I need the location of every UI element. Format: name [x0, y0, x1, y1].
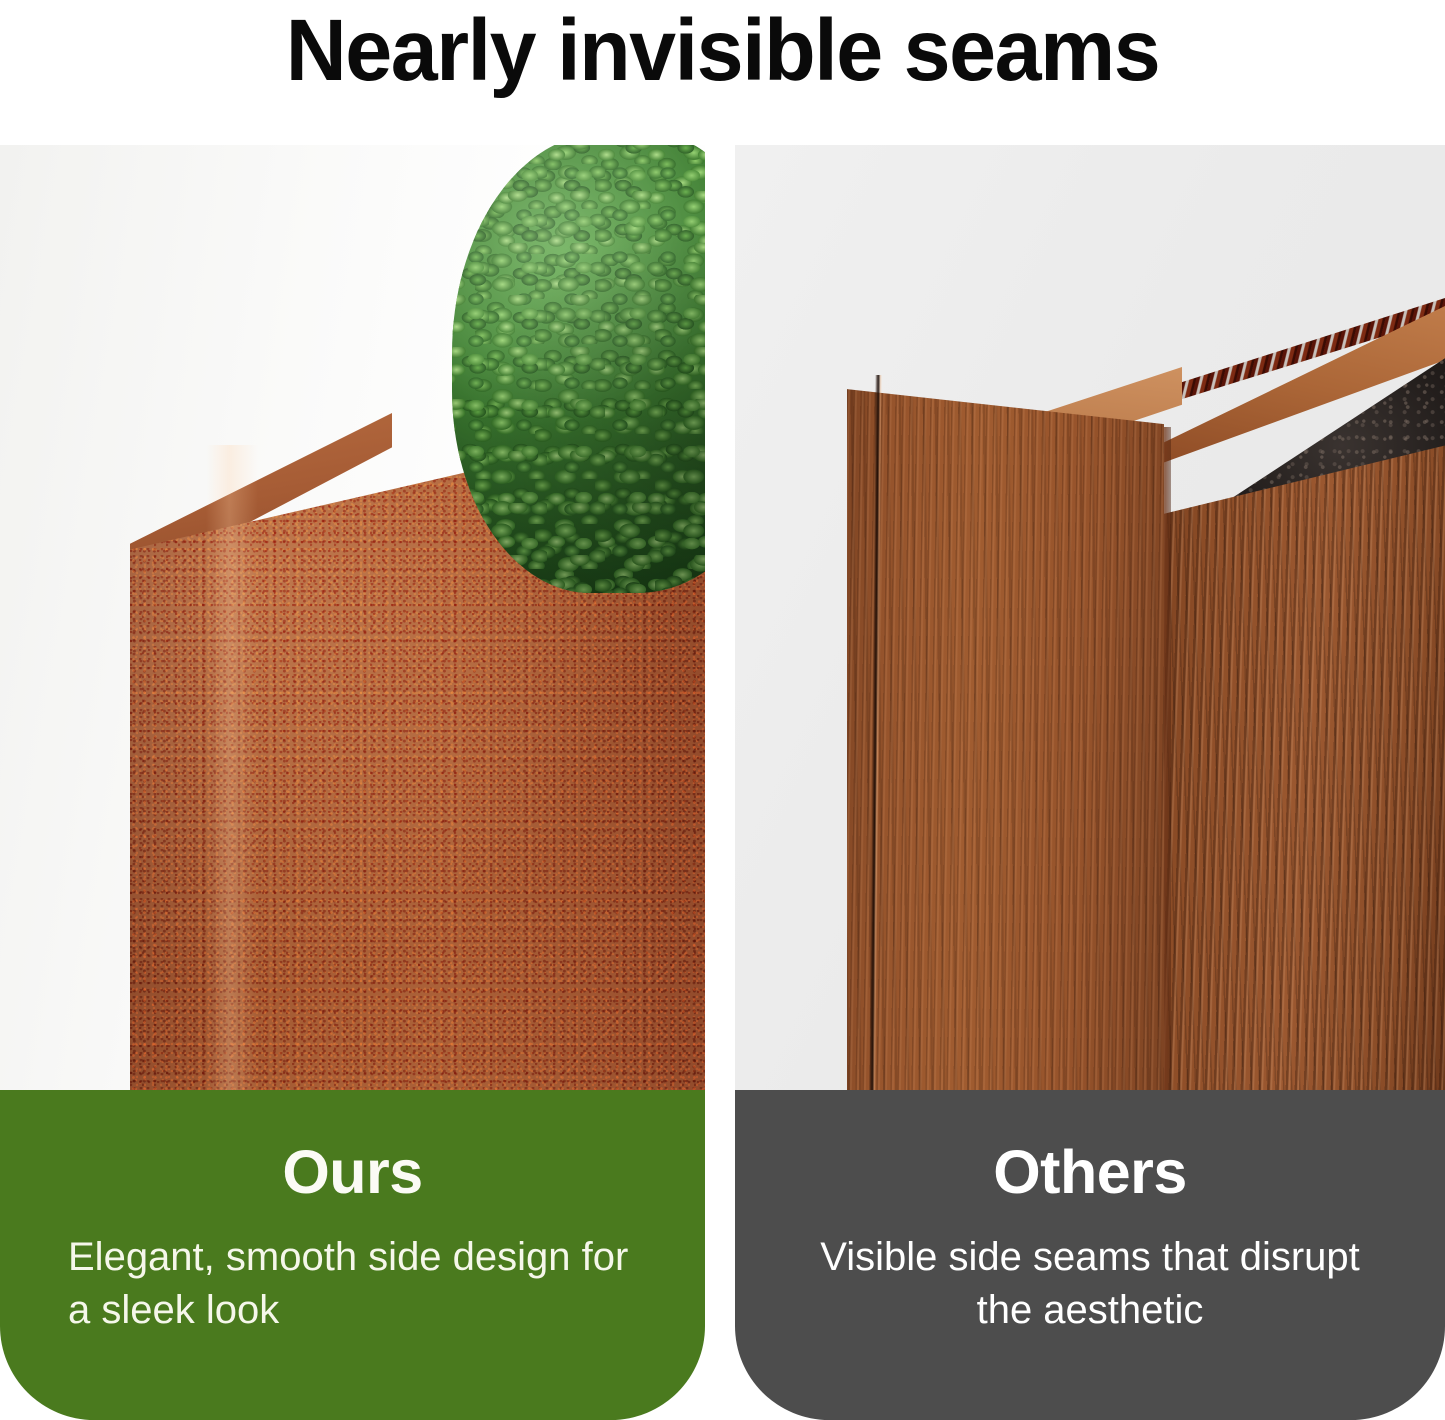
comparison-grid: Ours Elegant, smooth side design for a s… — [0, 145, 1445, 1420]
others-planter-front-face — [847, 363, 1164, 1090]
comparison-column-others: Others Visible side seams that disrupt t… — [735, 145, 1445, 1420]
page-title: Nearly invisible seams — [22, 0, 1424, 100]
ours-label: Ours — [34, 1142, 671, 1203]
others-caption-panel: Others Visible side seams that disrupt t… — [735, 1090, 1445, 1420]
comparison-column-ours: Ours Elegant, smooth side design for a s… — [0, 145, 705, 1420]
comparison-infographic: Nearly invisible seams Ours Elegant, smo… — [0, 0, 1445, 1420]
others-planter-side-panel — [1155, 445, 1445, 1090]
ours-caption-panel: Ours Elegant, smooth side design for a s… — [0, 1090, 705, 1420]
ours-description: Elegant, smooth side design for a sleek … — [34, 1231, 671, 1337]
others-label: Others — [769, 1142, 1411, 1203]
ours-product-photo — [0, 145, 705, 1090]
others-description: Visible side seams that disrupt the aest… — [769, 1231, 1411, 1337]
others-product-photo — [735, 145, 1445, 1090]
boxwood-topiary-plant — [452, 145, 705, 593]
